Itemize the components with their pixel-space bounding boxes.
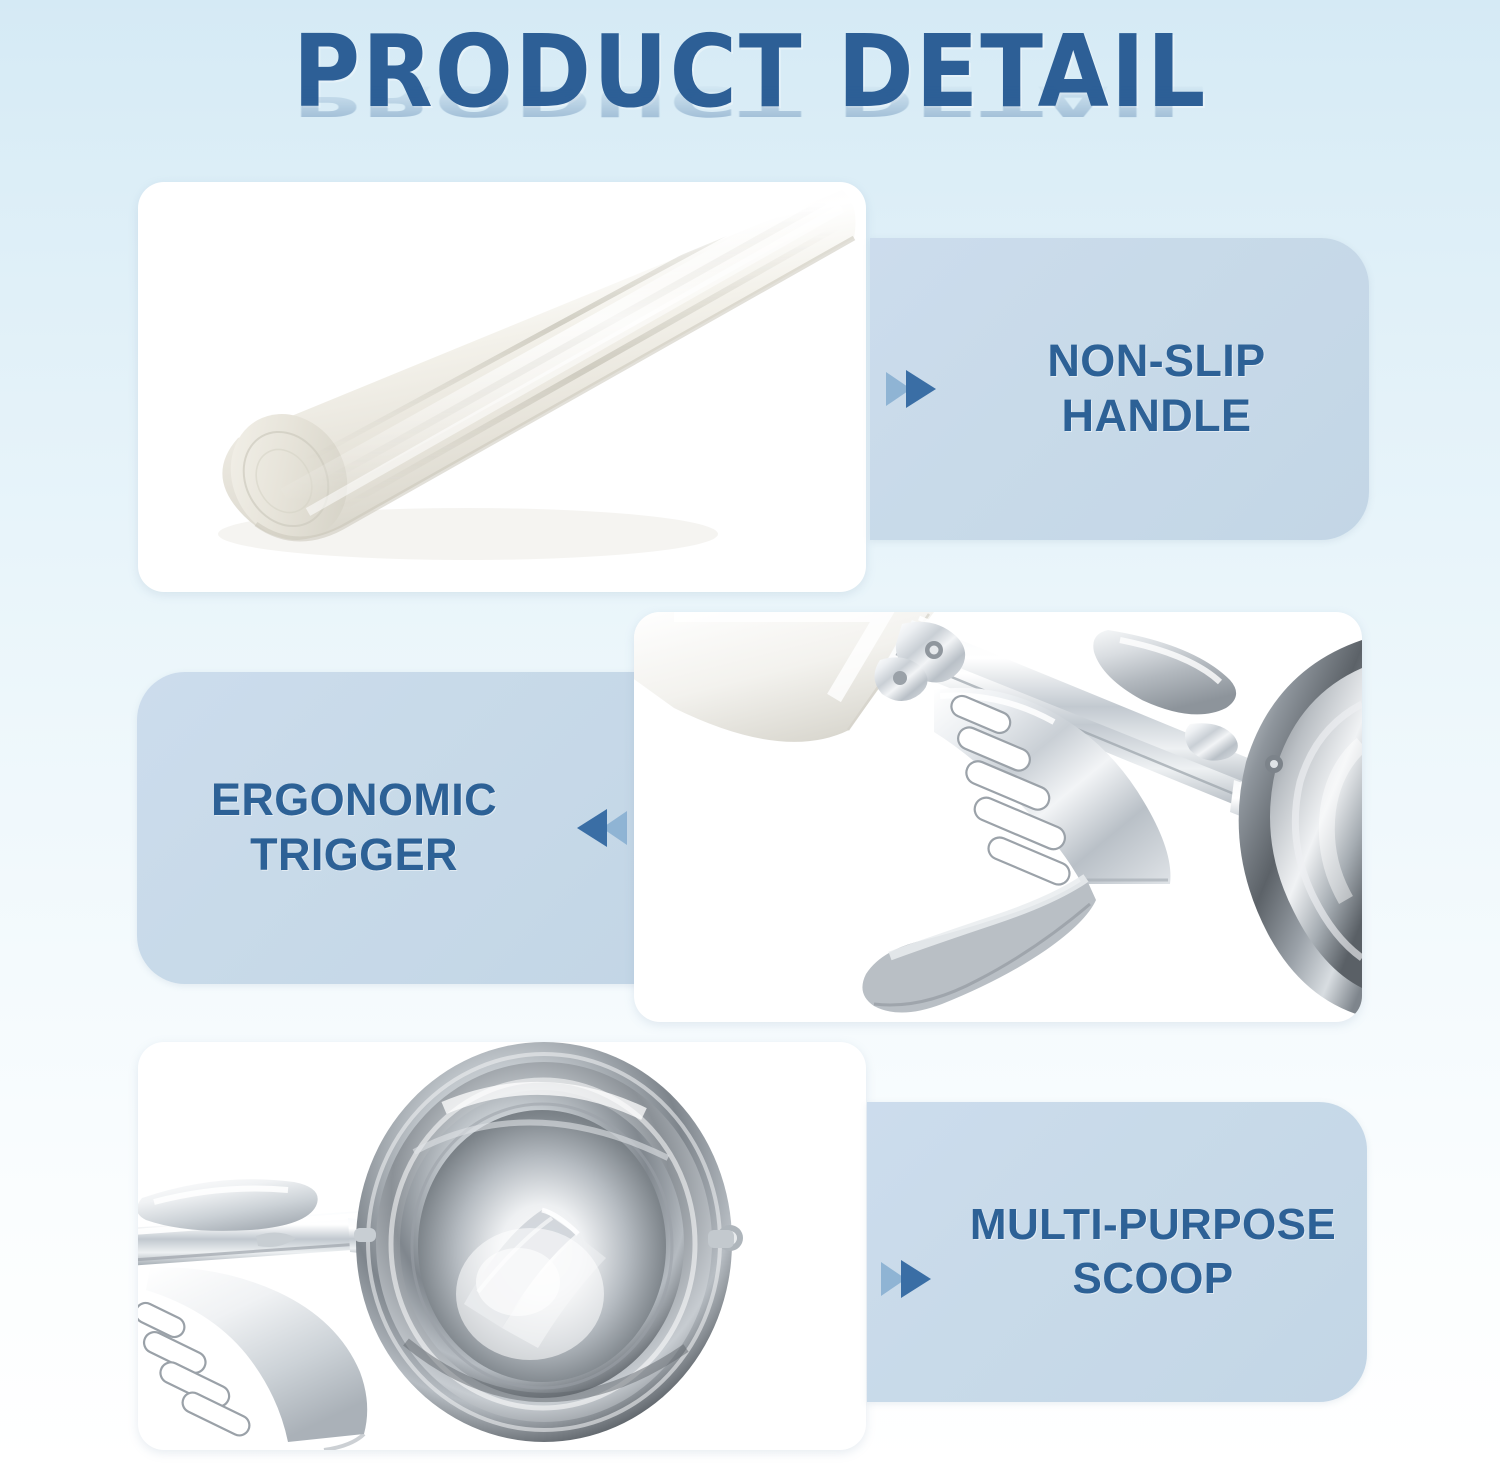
page-title-reflection: PRODUCT DETAIL [60,80,1440,122]
photo-card-ergonomic-trigger [634,612,1362,1022]
feature-label-multi-purpose-scoop[interactable]: MULTI-PURPOSE SCOOP [867,1102,1367,1402]
double-arrow-right-icon [884,364,944,414]
photo-card-multi-purpose-scoop [138,1042,866,1450]
feature-label-text: NON-SLIP HANDLE [944,334,1369,444]
feature-label-text: ERGONOMIC TRIGGER [137,773,571,883]
double-arrow-left-icon [571,803,631,853]
feature-label-non-slip-handle[interactable]: NON-SLIP HANDLE [870,238,1369,540]
photo-card-non-slip-handle [138,182,866,592]
scoop-photo-illustration [138,1042,866,1450]
product-detail-infographic: PRODUCT DETAIL PRODUCT DETAIL [0,0,1500,1463]
handle-photo-illustration [138,182,866,592]
feature-label-text: MULTI-PURPOSE SCOOP [939,1198,1367,1305]
double-arrow-right-icon [879,1254,939,1304]
page-title: PRODUCT DETAIL PRODUCT DETAIL [0,22,1500,172]
feature-label-ergonomic-trigger[interactable]: ERGONOMIC TRIGGER [137,672,641,984]
trigger-photo-illustration [634,612,1362,1022]
